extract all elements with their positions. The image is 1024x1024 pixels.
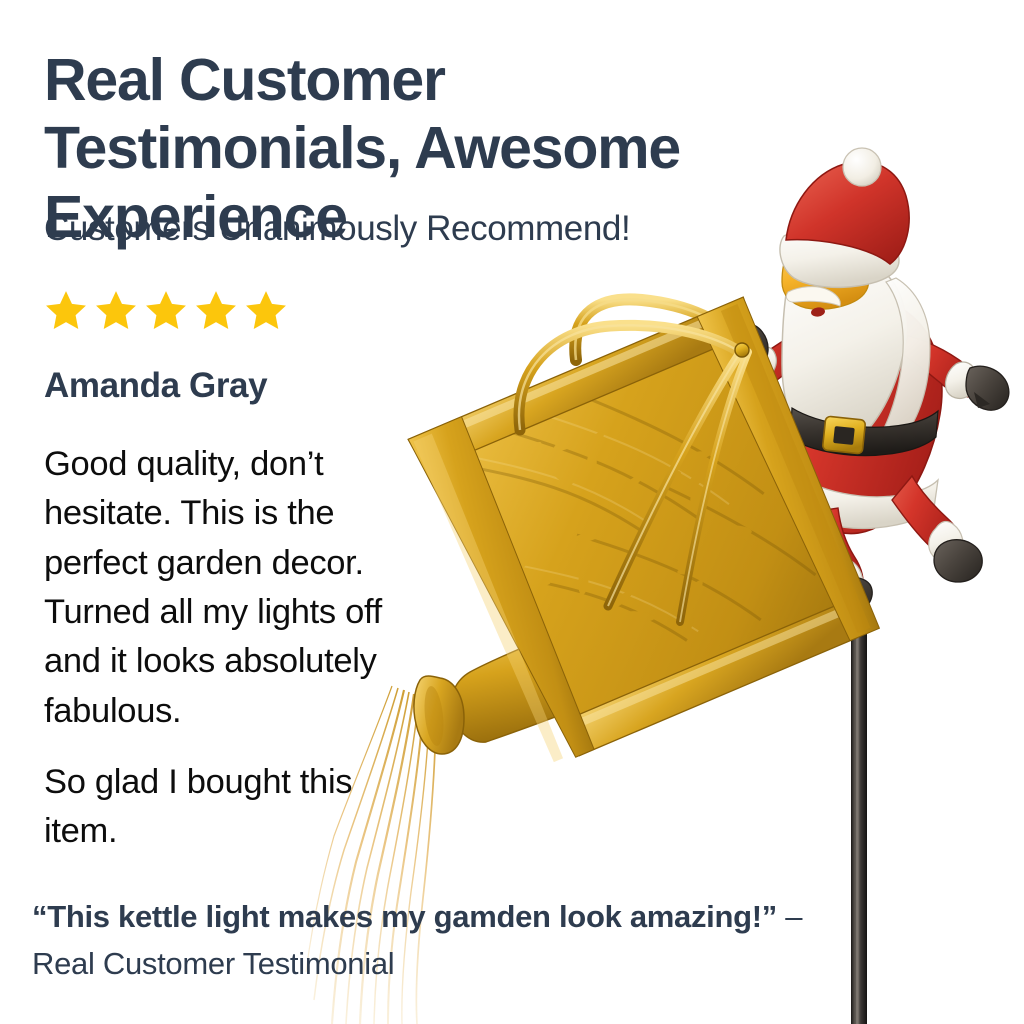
subtitle: Customers Unanimously Recommend! (44, 208, 764, 250)
star-icon (242, 288, 290, 334)
star-icon (142, 288, 190, 334)
star-icon (42, 288, 90, 334)
pull-quote-text: “This kettle light makes my gamden look … (32, 899, 777, 934)
gold-filigree-watering-can (408, 297, 883, 769)
star-icon (192, 288, 240, 334)
santa-garden-stake-figurine (723, 148, 1009, 621)
review-text: Good quality, don’t hesitate. This is th… (44, 440, 434, 857)
star-icon (92, 288, 140, 334)
star-rating (42, 288, 290, 334)
pull-quote: “This kettle light makes my gamden look … (32, 893, 862, 987)
review-paragraph: So glad I bought this item. (44, 758, 434, 857)
testimonial-graphic: Real Customer Testimonials, Awesome Expe… (0, 0, 1024, 1024)
review-paragraph: Good quality, don’t hesitate. This is th… (44, 440, 434, 736)
reviewer-name: Amanda Gray (44, 366, 267, 406)
